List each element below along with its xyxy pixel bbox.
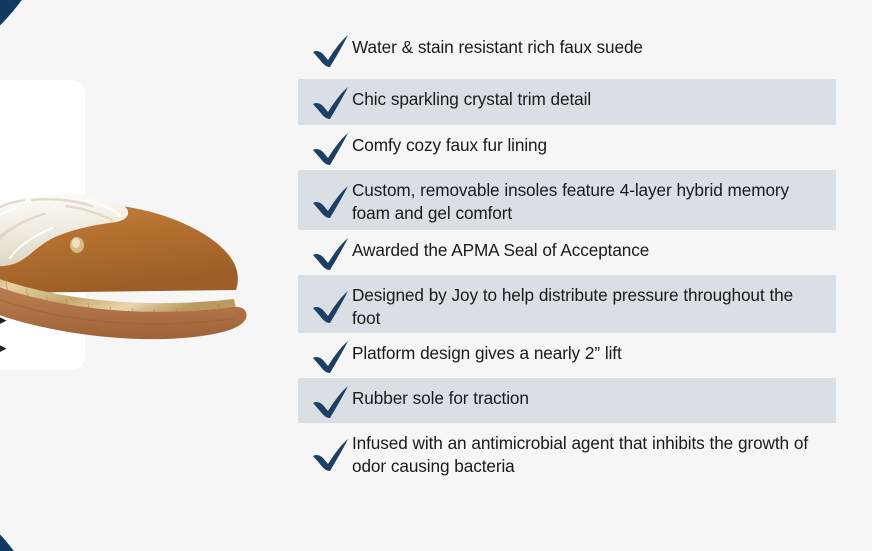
feature-row: Custom, removable insoles feature 4-laye… <box>298 170 836 230</box>
feature-text: Awarded the APMA Seal of Acceptance <box>352 236 826 262</box>
feature-text: Water & stain resistant rich faux suede <box>352 33 826 59</box>
feature-text: Platform design gives a nearly 2” lift <box>352 339 826 365</box>
feature-row: Awarded the APMA Seal of Acceptance <box>298 230 836 275</box>
feature-text: Rubber sole for traction <box>352 384 826 410</box>
checkmark-icon <box>306 133 352 165</box>
checkmark-icon <box>306 341 352 373</box>
feature-text: Chic sparkling crystal trim detail <box>352 85 826 111</box>
feature-row: Water & stain resistant rich faux suede <box>298 27 836 79</box>
checkmark-icon <box>306 87 352 119</box>
feature-row: Infused with an antimicrobial agent that… <box>298 423 836 485</box>
checkmark-icon <box>306 386 352 418</box>
feature-text: Custom, removable insoles feature 4-laye… <box>352 176 826 225</box>
checkmark-icon <box>306 431 352 463</box>
feature-row: Chic sparkling crystal trim detail <box>298 79 836 125</box>
feature-row: Rubber sole for traction <box>298 378 836 423</box>
feature-row: Comfy cozy faux fur lining <box>298 125 836 170</box>
thumbnail-marker-2-icon[interactable]: ▸ <box>0 342 11 353</box>
product-photo-slipper <box>0 166 286 341</box>
checkmark-icon <box>306 238 352 270</box>
feature-text: Designed by Joy to help distribute press… <box>352 281 826 330</box>
checkmark-icon <box>306 283 352 315</box>
feature-list: Water & stain resistant rich faux suede … <box>298 27 836 485</box>
product-feature-slide: ▸ ▸ <box>0 0 872 551</box>
checkmark-icon <box>306 35 352 67</box>
feature-text: Infused with an antimicrobial agent that… <box>352 429 826 478</box>
checkmark-icon <box>306 178 352 210</box>
feature-row: Designed by Joy to help distribute press… <box>298 275 836 333</box>
feature-text: Comfy cozy faux fur lining <box>352 131 826 157</box>
product-image-panel: ▸ ▸ <box>0 0 296 551</box>
feature-row: Platform design gives a nearly 2” lift <box>298 333 836 378</box>
